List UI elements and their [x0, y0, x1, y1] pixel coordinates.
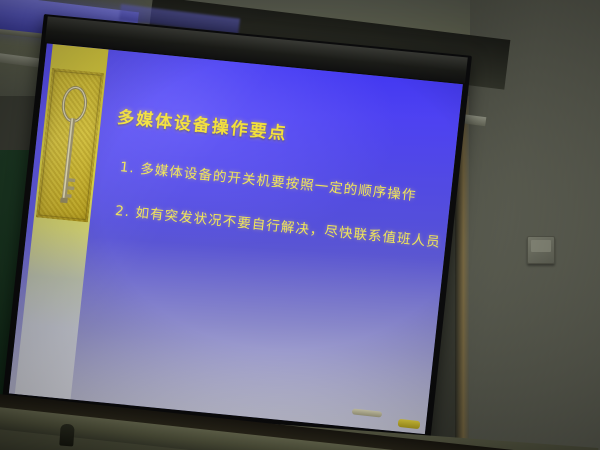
presentation-slide: 多媒体设备操作要点 1. 多媒体设备的开关机要按照一定的顺序操作 2. 如有突发…	[9, 43, 463, 434]
classroom-photo: 多媒体设备操作要点 1. 多媒体设备的开关机要按照一定的顺序操作 2. 如有突发…	[0, 0, 600, 450]
slide-bullet-2: 2. 如有突发状况不要自行解决，尽快联系值班人员	[114, 199, 442, 251]
slide-bullet-1: 1. 多媒体设备的开关机要按照一定的顺序操作	[119, 155, 418, 204]
antique-key-graphic	[47, 81, 93, 211]
light-switch[interactable]	[527, 236, 555, 264]
key-graphic-plate	[36, 68, 104, 222]
slide-title: 多媒体设备操作要点	[116, 103, 289, 145]
screen-canvas: 多媒体设备操作要点 1. 多媒体设备的开关机要按照一定的顺序操作 2. 如有突发…	[9, 43, 463, 434]
blackboard-eraser[interactable]	[59, 424, 75, 447]
projection-screen: 多媒体设备操作要点 1. 多媒体设备的开关机要按照一定的顺序操作 2. 如有突发…	[1, 14, 472, 450]
